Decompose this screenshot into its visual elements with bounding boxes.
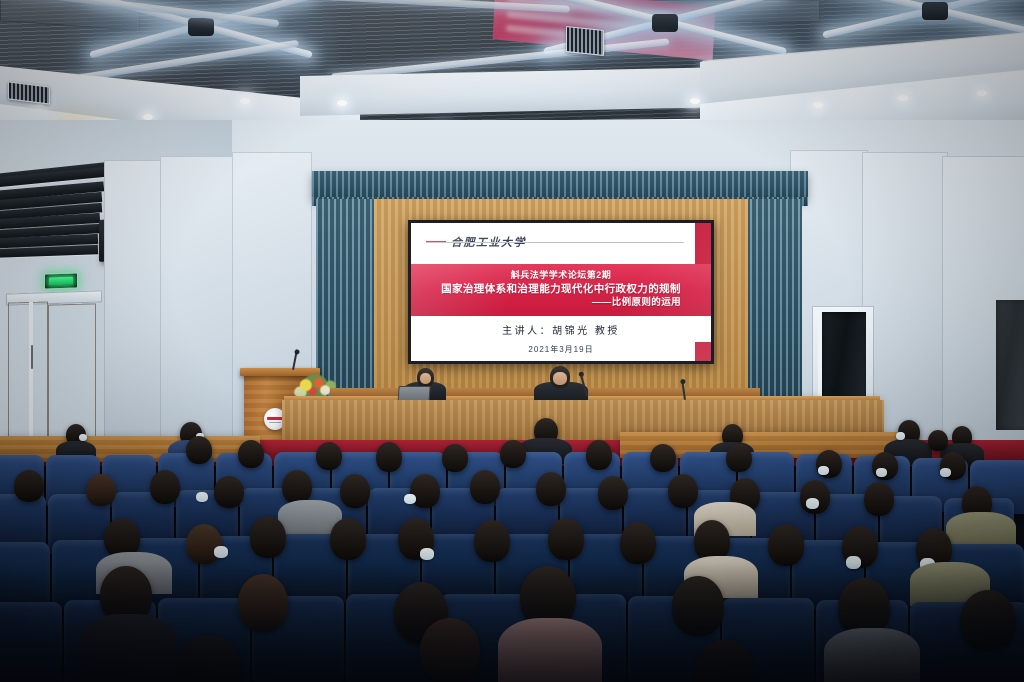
- curtain-pelmet: [312, 171, 808, 199]
- face-mask: [404, 494, 416, 504]
- audience-head: [330, 518, 366, 560]
- audience-head: [238, 440, 264, 468]
- light-fixture-hub: [188, 18, 214, 36]
- audience-head: [14, 470, 44, 502]
- auditorium-photo: 合肥工业大学 斛兵法学学术论坛第2期 国家治理体系和治理能力现代化中行政权力的规…: [0, 0, 1024, 682]
- audience-head: [86, 474, 116, 506]
- audience-head: [442, 444, 468, 472]
- projection-screen: 合肥工业大学 斛兵法学学术论坛第2期 国家治理体系和治理能力现代化中行政权力的规…: [408, 220, 714, 364]
- audience-head: [282, 470, 312, 504]
- face-mask: [876, 468, 887, 477]
- face-mask: [806, 498, 819, 509]
- slide-title-line2: 国家治理体系和治理能力现代化中行政权力的规制: [411, 282, 711, 297]
- audience-head: [376, 442, 402, 472]
- slide-corner-accent: [695, 223, 712, 264]
- audience-head: [500, 440, 526, 468]
- ceiling-downlight: [337, 100, 347, 106]
- audience-head: [150, 470, 180, 504]
- door-handle[interactable]: [31, 345, 33, 369]
- audience-head: [864, 482, 894, 516]
- ceiling-downlight: [898, 95, 908, 101]
- audience-head: [238, 574, 288, 632]
- light-fixture-hub: [652, 14, 678, 32]
- audience-head: [620, 522, 656, 564]
- slide-speaker: 主讲人：胡锦光 教授: [502, 322, 620, 337]
- ceiling-downlight: [813, 102, 823, 108]
- projector-housing: [566, 26, 604, 56]
- ceiling-downlight: [240, 98, 250, 104]
- face-mask: [214, 546, 228, 558]
- audience-shoulders: [824, 628, 920, 682]
- audience-head: [474, 520, 510, 562]
- audience-head: [316, 442, 342, 470]
- audience-head: [470, 470, 500, 504]
- audience-head: [536, 472, 566, 506]
- audience-head: [960, 590, 1016, 652]
- light-fixture-hub: [922, 2, 948, 20]
- slide-corner-accent-bottom: [695, 342, 712, 361]
- face-mask: [818, 466, 829, 475]
- face-mask: [846, 556, 861, 569]
- audience-shoulders: [946, 512, 1016, 548]
- wall-panel: [104, 160, 166, 448]
- face-mask: [896, 432, 905, 440]
- face-mask: [940, 468, 951, 477]
- audience-shoulders: [78, 614, 178, 682]
- audience-head: [928, 430, 948, 451]
- audience-head: [800, 480, 830, 514]
- audience-head: [672, 576, 724, 636]
- face-mask: [420, 548, 434, 560]
- slide-title-line3: ——比例原则的运用: [411, 296, 711, 309]
- ceiling-downlight: [977, 90, 987, 96]
- slide-header: 合肥工业大学: [411, 223, 711, 264]
- audience-head: [586, 440, 612, 470]
- wall-panel: [160, 156, 238, 448]
- audience-head: [186, 524, 222, 564]
- slide-divider: [426, 242, 684, 243]
- emergency-exit-sign: [44, 272, 78, 289]
- audience-head: [548, 518, 584, 560]
- audience-head: [250, 516, 286, 558]
- audience-head: [668, 474, 698, 508]
- slide-footer: 主讲人：胡锦光 教授 2021年3月19日: [411, 316, 711, 361]
- exit-door-right[interactable]: [48, 303, 96, 444]
- lecturer-face: [553, 372, 567, 385]
- exit-door-left[interactable]: [8, 301, 48, 442]
- moderator-face: [420, 373, 431, 384]
- door-gap: [29, 302, 33, 442]
- ceiling-downlight: [690, 98, 700, 104]
- audience-head: [420, 618, 480, 682]
- face-mask: [196, 492, 208, 502]
- slide-title-line1: 斛兵法学学术论坛第2期: [411, 269, 711, 281]
- presentation-slide: 合肥工业大学 斛兵法学学术论坛第2期 国家治理体系和治理能力现代化中行政权力的规…: [411, 223, 711, 361]
- audience-head: [186, 436, 212, 464]
- audience-head: [598, 476, 628, 510]
- auditorium-seat[interactable]: [0, 602, 62, 682]
- audience-shoulders: [498, 618, 602, 682]
- audience-head: [410, 474, 440, 508]
- audience-head: [768, 524, 804, 566]
- right-doorway-far[interactable]: [996, 300, 1024, 430]
- audience-head: [726, 444, 752, 472]
- face-mask: [79, 434, 87, 441]
- exit-sign-glow: [49, 277, 74, 286]
- audience-head: [340, 474, 370, 508]
- audience-head: [214, 476, 244, 508]
- audience-head: [650, 444, 676, 472]
- slide-title-band: 斛兵法学学术论坛第2期 国家治理体系和治理能力现代化中行政权力的规制 ——比例原…: [411, 264, 711, 315]
- slide-date: 2021年3月19日: [528, 344, 593, 355]
